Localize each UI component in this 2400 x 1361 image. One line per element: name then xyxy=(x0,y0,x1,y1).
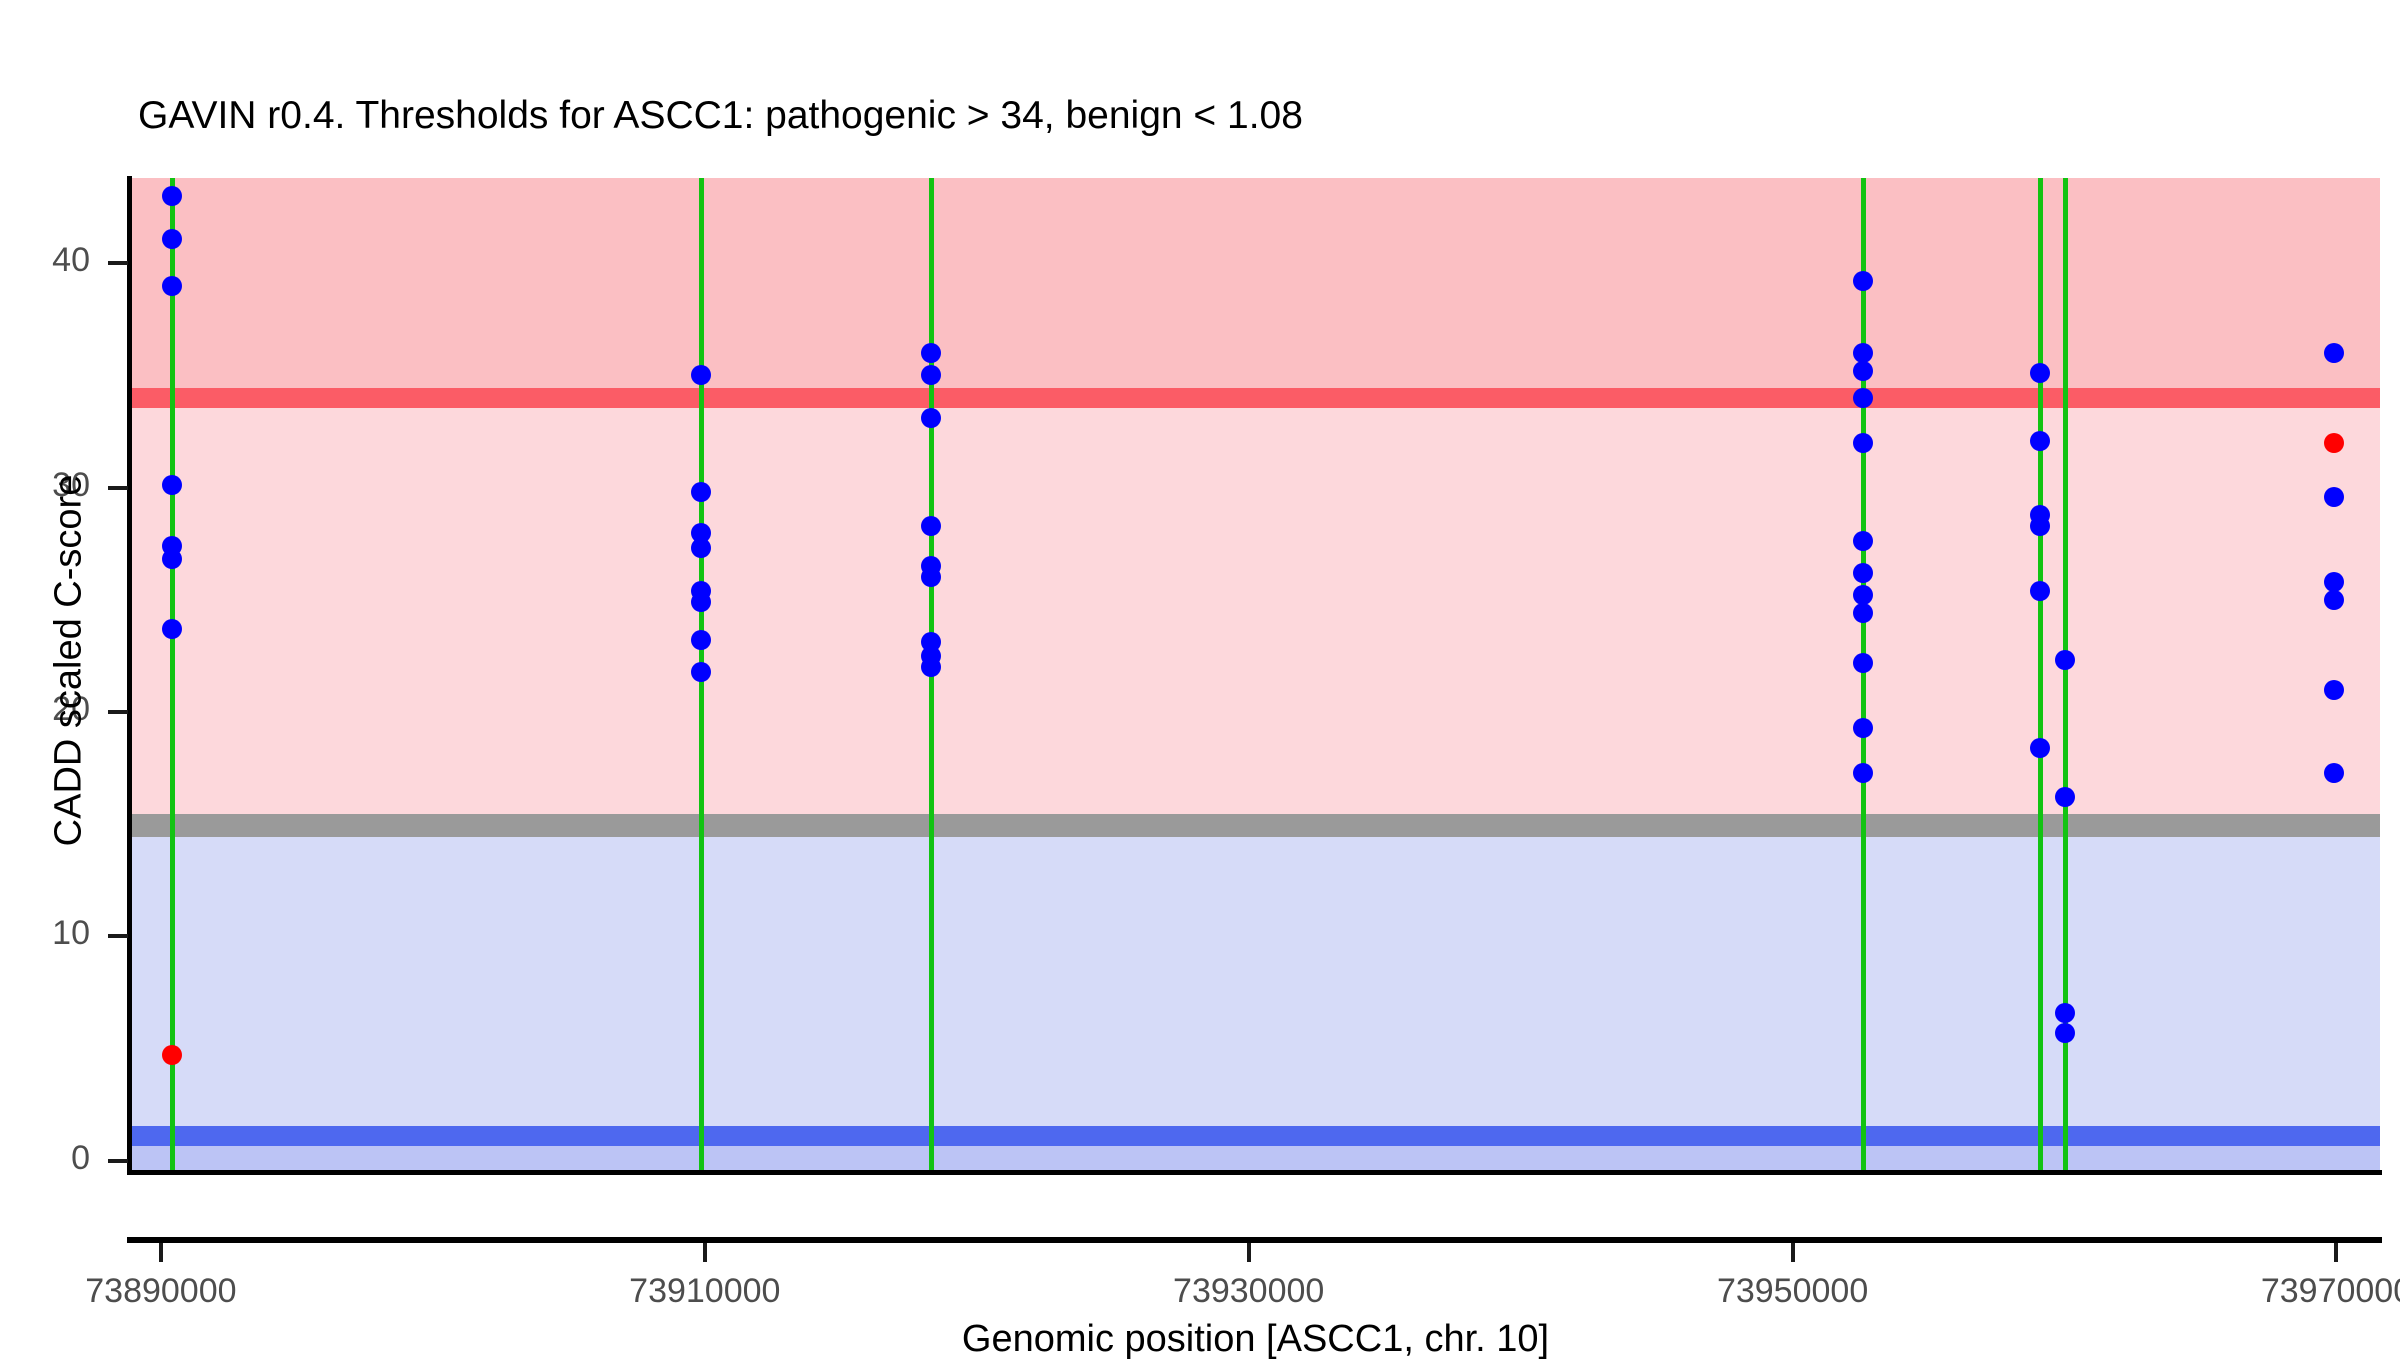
y-tick-mark xyxy=(108,934,128,938)
gnomad-variant-point xyxy=(921,657,941,677)
refseq-exon-line xyxy=(1861,178,1866,1172)
gnomad-variant-point xyxy=(2055,1023,2075,1043)
gnomad-variant-point xyxy=(2055,787,2075,807)
y-tick-mark xyxy=(108,710,128,714)
x-tick-label: 73970000 xyxy=(2166,1272,2400,1311)
gnomad-variant-point xyxy=(2055,1003,2075,1023)
gnomad-variant-point xyxy=(1853,433,1873,453)
gnomad-variant-point xyxy=(921,365,941,385)
refseq-exon-line xyxy=(170,178,175,1172)
gnomad-variant-point xyxy=(921,343,941,363)
x-tick-mark xyxy=(159,1243,163,1262)
gnomad-variant-point xyxy=(2324,680,2344,700)
x-tick-label: 73930000 xyxy=(1079,1272,1419,1311)
x-tick-mark xyxy=(1247,1243,1251,1262)
gnomad-variant-point xyxy=(691,538,711,558)
x-tick-mark xyxy=(1791,1243,1795,1262)
x-tick-label: 73950000 xyxy=(1623,1272,1963,1311)
gnomad-variant-point xyxy=(921,567,941,587)
gnomad-variant-point xyxy=(162,186,182,206)
y-tick-label: 0 xyxy=(0,1139,90,1178)
plot-panel xyxy=(131,178,2380,1172)
gnomad-variant-point xyxy=(691,592,711,612)
gnomad-variant-point xyxy=(691,662,711,682)
gavin-cadd-scatter-figure: GAVIN r0.4. Thresholds for ASCC1: pathog… xyxy=(0,0,2400,1350)
gnomad-variant-point xyxy=(162,276,182,296)
gnomad-variant-point xyxy=(2324,590,2344,610)
gnomad-variant-point xyxy=(921,408,941,428)
x-tick-mark xyxy=(2334,1243,2338,1262)
gnomad-variant-point xyxy=(1853,718,1873,738)
x-axis-line xyxy=(127,1237,2382,1243)
gnomad-variant-point xyxy=(2030,431,2050,451)
gnomad-variant-point xyxy=(162,229,182,249)
gnomad-variant-point xyxy=(691,482,711,502)
gnomad-variant-point xyxy=(2030,516,2050,536)
y-tick-mark xyxy=(108,486,128,490)
y-axis-label: CADD scaled C-score xyxy=(48,211,91,1111)
gnomad-variant-point xyxy=(1853,653,1873,673)
y-axis-line xyxy=(127,176,132,1174)
x-axis-label: Genomic position [ASCC1, chr. 10] xyxy=(131,1318,2380,1361)
gnomad-variant-point xyxy=(1853,763,1873,783)
y-tick-mark xyxy=(108,1159,128,1163)
gnomad-variant-point xyxy=(162,619,182,639)
x-tick-mark xyxy=(703,1243,707,1262)
refseq-exon-line xyxy=(2038,178,2043,1172)
gnomad-variant-point xyxy=(2324,487,2344,507)
gnomad-variant-point xyxy=(2324,343,2344,363)
x-tick-label: 73910000 xyxy=(535,1272,875,1311)
clinvar-pathogenic-point xyxy=(162,1045,182,1065)
gnomad-variant-point xyxy=(2324,572,2344,592)
panel-bottom-border xyxy=(127,1170,2382,1175)
clinvar-pathogenic-point xyxy=(2324,433,2344,453)
gnomad-variant-point xyxy=(2030,581,2050,601)
gnomad-variant-point xyxy=(691,630,711,650)
x-tick-label: 73890000 xyxy=(0,1272,331,1311)
y-tick-mark xyxy=(108,261,128,265)
title-line-1: GAVIN r0.4. Thresholds for ASCC1: pathog… xyxy=(138,94,2338,137)
gnomad-variant-point xyxy=(2055,650,2075,670)
gnomad-variant-point xyxy=(2030,738,2050,758)
gnomad-variant-point xyxy=(2324,763,2344,783)
gnomad-variant-point xyxy=(921,516,941,536)
